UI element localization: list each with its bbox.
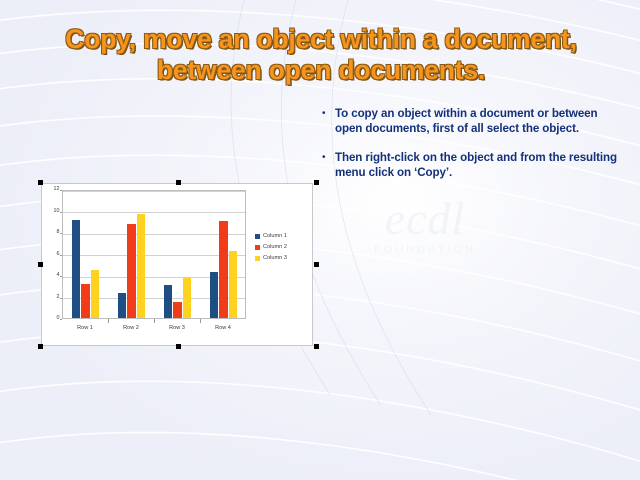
chart-bar — [164, 285, 173, 318]
legend-label: Column 1 — [263, 234, 287, 240]
legend-item: Column 3 — [255, 256, 287, 262]
bullet-marker-icon: • — [322, 106, 335, 121]
selection-handle-bottom-middle[interactable] — [176, 344, 181, 349]
selection-handle-top-left[interactable] — [38, 180, 43, 185]
slide-title: Copy, move an object within a document, … — [34, 24, 608, 85]
chart-bar — [210, 272, 219, 318]
chart-bars — [63, 191, 245, 318]
selection-handle-bottom-left[interactable] — [38, 344, 43, 349]
y-axis-tick-label: 8 — [43, 230, 60, 235]
x-axis-category-label: Row 4 — [200, 326, 246, 332]
selection-handle-top-middle[interactable] — [176, 180, 181, 185]
chart-bar — [81, 284, 90, 318]
y-axis-tick-mark — [60, 319, 62, 320]
chart: 024681012 Row 1Row 2Row 3Row 4 Column 1C… — [42, 184, 312, 345]
chart-legend: Column 1Column 2Column 3 — [255, 234, 287, 267]
y-axis-tick-label: 6 — [43, 252, 60, 257]
chart-bar — [72, 220, 81, 318]
bullet-marker-icon: • — [322, 150, 335, 165]
legend-color-swatch — [255, 234, 260, 239]
selection-handle-top-right[interactable] — [314, 180, 319, 185]
bullet-item: • To copy an object within a document or… — [322, 106, 622, 137]
y-axis-tick-mark — [60, 276, 62, 277]
watermark: ecdl FOUNDATION — [300, 196, 550, 306]
selection-handle-middle-right[interactable] — [314, 262, 319, 267]
x-axis-category-label: Row 3 — [154, 326, 200, 332]
legend-item: Column 1 — [255, 234, 287, 240]
chart-bar — [183, 278, 192, 318]
y-axis-tick-label: 4 — [43, 273, 60, 278]
chart-bar — [219, 221, 228, 318]
bullet-text: Then right-click on the object and from … — [335, 150, 622, 181]
bullet-item: • Then right-click on the object and fro… — [322, 150, 622, 181]
chart-bar — [229, 251, 238, 318]
selection-handle-middle-left[interactable] — [38, 262, 43, 267]
x-axis-category-label: Row 1 — [62, 326, 108, 332]
legend-label: Column 3 — [263, 256, 287, 262]
chart-bar — [118, 293, 127, 318]
legend-label: Column 2 — [263, 245, 287, 251]
chart-plot-area — [62, 190, 246, 319]
x-axis-tick-mark — [200, 319, 201, 323]
bullet-list: • To copy an object within a document or… — [322, 106, 622, 193]
bullet-text: To copy an object within a document or b… — [335, 106, 622, 137]
slide-canvas: ecdl FOUNDATION Copy, move an object wit… — [0, 0, 640, 480]
chart-bar — [137, 214, 146, 318]
y-axis-tick-mark — [60, 190, 62, 191]
legend-color-swatch — [255, 245, 260, 250]
y-axis-tick-mark — [60, 255, 62, 256]
y-axis-tick-label: 12 — [43, 187, 60, 192]
y-axis-tick-mark — [60, 233, 62, 234]
chart-bar — [173, 302, 182, 318]
embedded-chart-object[interactable]: 024681012 Row 1Row 2Row 3Row 4 Column 1C… — [41, 183, 313, 346]
watermark-text: ecdl — [300, 196, 550, 242]
chart-bar — [91, 270, 100, 318]
y-axis-tick-mark — [60, 212, 62, 213]
watermark-subtext: FOUNDATION — [300, 244, 550, 256]
chart-bar — [127, 224, 136, 318]
x-axis-tick-mark — [154, 319, 155, 323]
selection-handle-bottom-right[interactable] — [314, 344, 319, 349]
y-axis-tick-mark — [60, 298, 62, 299]
x-axis-tick-mark — [108, 319, 109, 323]
legend-item: Column 2 — [255, 245, 287, 251]
y-axis-tick-label: 0 — [43, 316, 60, 321]
y-axis-tick-label: 2 — [43, 295, 60, 300]
x-axis-category-label: Row 2 — [108, 326, 154, 332]
y-axis-tick-label: 10 — [43, 209, 60, 214]
legend-color-swatch — [255, 256, 260, 261]
